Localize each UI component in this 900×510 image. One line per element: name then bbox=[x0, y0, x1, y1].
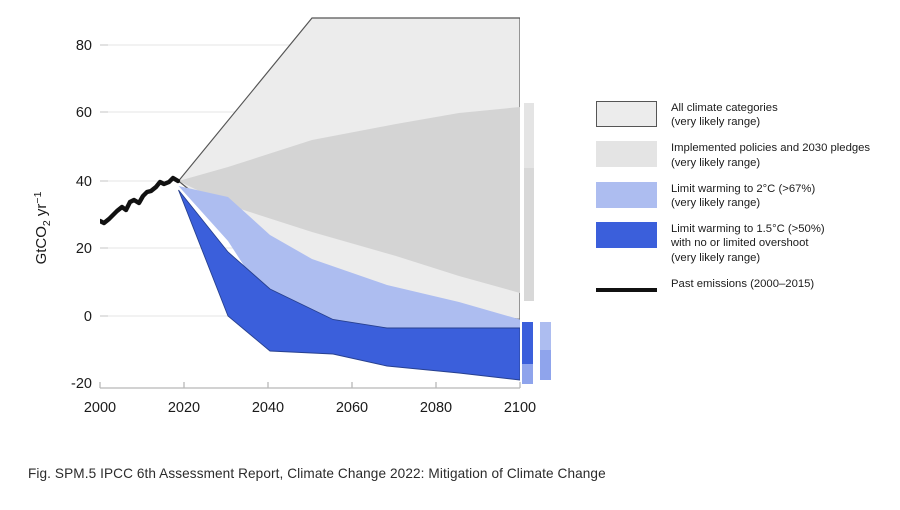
range-bar-all-categories-inner bbox=[524, 168, 534, 301]
y-tick-60: 60 bbox=[76, 105, 92, 121]
figure-caption: Fig. SPM.5 IPCC 6th Assessment Report, C… bbox=[28, 466, 606, 481]
legend-label-implemented-policies: Implemented policies and 2030 pledges (v… bbox=[671, 140, 870, 169]
x-tick-2080: 2080 bbox=[420, 400, 452, 416]
y-axis-title-superscript: −1 bbox=[32, 191, 44, 203]
y-axis-title-main: GtCO bbox=[33, 226, 50, 264]
chart-legend: All climate categories (very likely rang… bbox=[596, 100, 896, 314]
range-bar-limit-15c-inner bbox=[522, 364, 533, 384]
y-tick-20: 20 bbox=[76, 241, 92, 257]
x-tick-2040: 2040 bbox=[252, 400, 284, 416]
legend-item-limit-15c[interactable]: Limit warming to 1.5°C (>50%) with no or… bbox=[596, 221, 896, 265]
y-axis-title: GtCO2 yr−1 bbox=[32, 191, 53, 264]
legend-label-limit-2c: Limit warming to 2°C (>67%) (very likely… bbox=[671, 181, 815, 210]
legend-label-all-climate-categories: All climate categories (very likely rang… bbox=[671, 100, 778, 129]
legend-item-implemented-policies[interactable]: Implemented policies and 2030 pledges (v… bbox=[596, 140, 896, 169]
legend-item-past-emissions[interactable]: Past emissions (2000–2015) bbox=[596, 276, 896, 303]
x-tick-2060: 2060 bbox=[336, 400, 368, 416]
legend-swatch-past-emissions bbox=[596, 277, 657, 303]
legend-swatch-all-climate-categories bbox=[596, 101, 657, 127]
y-tick-80: 80 bbox=[76, 38, 92, 54]
y-axis-tick-labels: 80 60 40 20 0 -20 bbox=[71, 38, 92, 392]
range-bars-2105 bbox=[522, 103, 551, 384]
legend-item-all-climate-categories[interactable]: All climate categories (very likely rang… bbox=[596, 100, 896, 129]
x-axis-tick-labels: 2000 2020 2040 2060 2080 2100 bbox=[84, 400, 536, 416]
figure-container: 80 60 40 20 0 -20 2000 2020 2040 2060 20… bbox=[0, 0, 900, 510]
y-axis-title-unit: yr bbox=[33, 204, 50, 221]
legend-swatch-limit-15c bbox=[596, 222, 657, 248]
line-past-emissions bbox=[100, 178, 178, 223]
y-tick-neg20: -20 bbox=[71, 376, 92, 392]
legend-label-past-emissions: Past emissions (2000–2015) bbox=[671, 276, 814, 291]
range-bar-limit-2c-inner bbox=[540, 350, 551, 380]
legend-swatch-limit-2c bbox=[596, 182, 657, 208]
legend-item-limit-2c[interactable]: Limit warming to 2°C (>67%) (very likely… bbox=[596, 181, 896, 210]
x-tick-2100: 2100 bbox=[504, 400, 536, 416]
legend-label-limit-15c: Limit warming to 1.5°C (>50%) with no or… bbox=[671, 221, 825, 265]
y-tick-40: 40 bbox=[76, 174, 92, 190]
x-tick-2000: 2000 bbox=[84, 400, 116, 416]
legend-swatch-implemented-policies bbox=[596, 141, 657, 167]
x-tick-2020: 2020 bbox=[168, 400, 200, 416]
y-tick-0: 0 bbox=[84, 309, 92, 325]
svg-text:GtCO2 yr−1: GtCO2 yr−1 bbox=[32, 191, 53, 264]
